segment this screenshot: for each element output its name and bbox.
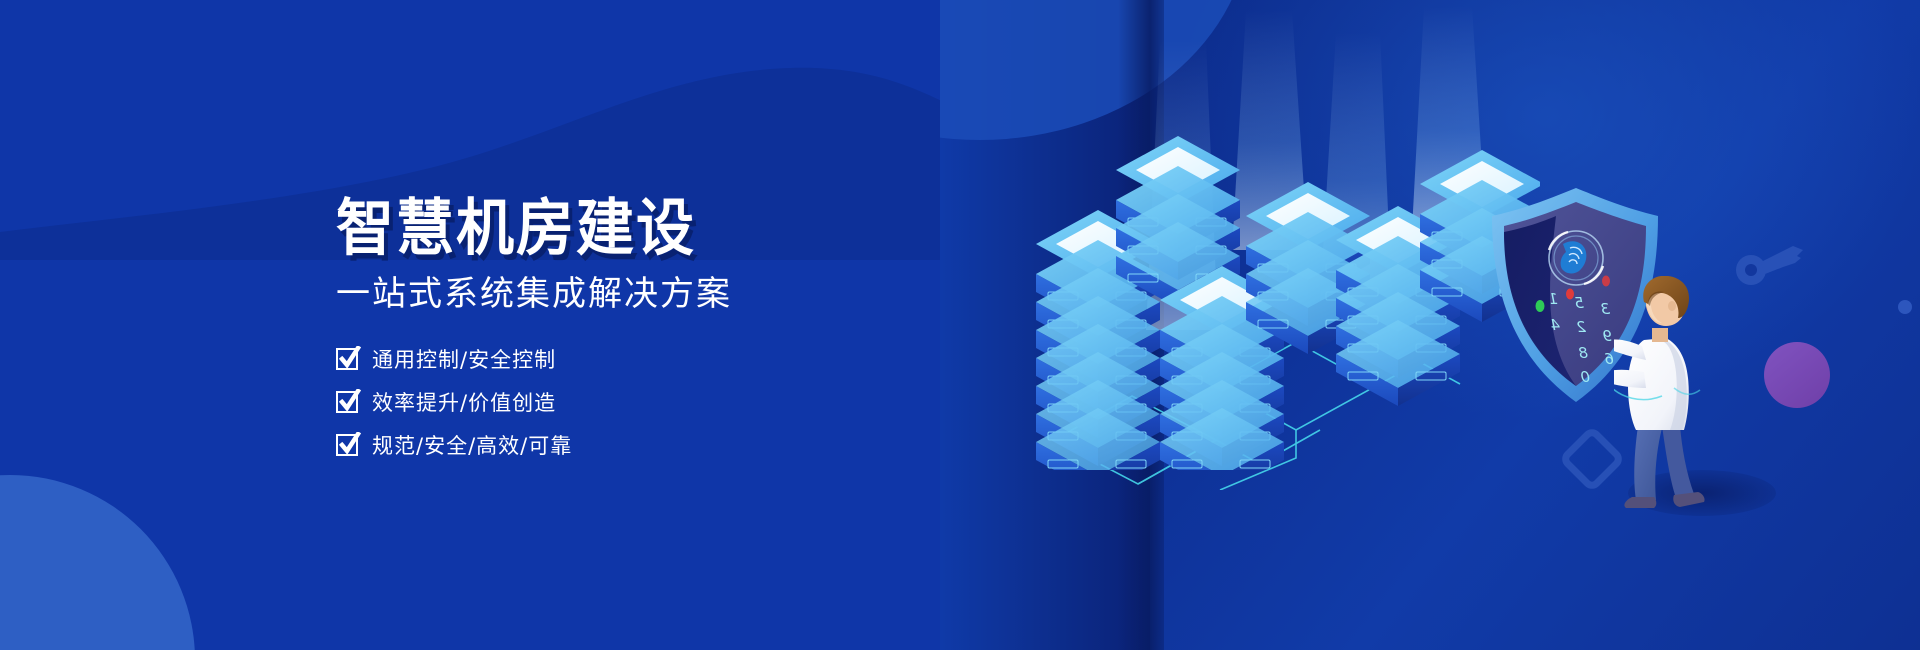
key-icon bbox=[1735, 240, 1805, 288]
list-item: 效率提升/价值创造 bbox=[336, 387, 916, 417]
decorative-purple-circle bbox=[1764, 342, 1830, 408]
list-item: 规范/安全/高效/可靠 bbox=[336, 430, 916, 460]
svg-text:5: 5 bbox=[1574, 294, 1584, 312]
check-mark-icon bbox=[339, 346, 361, 372]
promo-banner: 3 9 6 5 2 8 0 1 4 bbox=[0, 0, 1920, 650]
svg-text:3: 3 bbox=[1600, 300, 1610, 318]
list-item-label: 通用控制/安全控制 bbox=[372, 344, 556, 374]
svg-text:2: 2 bbox=[1576, 318, 1586, 336]
engineer-figure-icon bbox=[1614, 276, 1764, 526]
svg-text:1: 1 bbox=[1548, 290, 1558, 308]
checkbox-checked bbox=[336, 348, 358, 370]
list-item-label: 规范/安全/高效/可靠 bbox=[372, 430, 572, 460]
svg-text:8: 8 bbox=[1578, 344, 1588, 362]
list-item-label: 效率提升/价值创造 bbox=[372, 387, 556, 417]
page-title: 智慧机房建设 bbox=[336, 196, 916, 260]
page-subtitle: 一站式系统集成解决方案 bbox=[336, 274, 916, 314]
list-item: 通用控制/安全控制 bbox=[336, 344, 916, 374]
check-mark-icon bbox=[339, 389, 361, 415]
svg-text:9: 9 bbox=[1602, 327, 1612, 345]
feature-list: 通用控制/安全控制 效率提升/价值创造 规范/安全/高效/可靠 bbox=[336, 344, 916, 460]
banner-copy-block: 智慧机房建设 一站式系统集成解决方案 通用控制/安全控制 效率提升/价值创造 bbox=[336, 196, 916, 473]
checkbox-checked bbox=[336, 391, 358, 413]
svg-text:0: 0 bbox=[1580, 368, 1590, 386]
decorative-dot bbox=[1898, 300, 1912, 314]
svg-text:6: 6 bbox=[1604, 350, 1614, 368]
check-mark-icon bbox=[339, 432, 361, 458]
decorative-corner-circle bbox=[0, 475, 195, 650]
svg-text:4: 4 bbox=[1550, 316, 1560, 334]
server-rack-icon bbox=[1020, 40, 1540, 470]
checkbox-checked bbox=[336, 434, 358, 456]
